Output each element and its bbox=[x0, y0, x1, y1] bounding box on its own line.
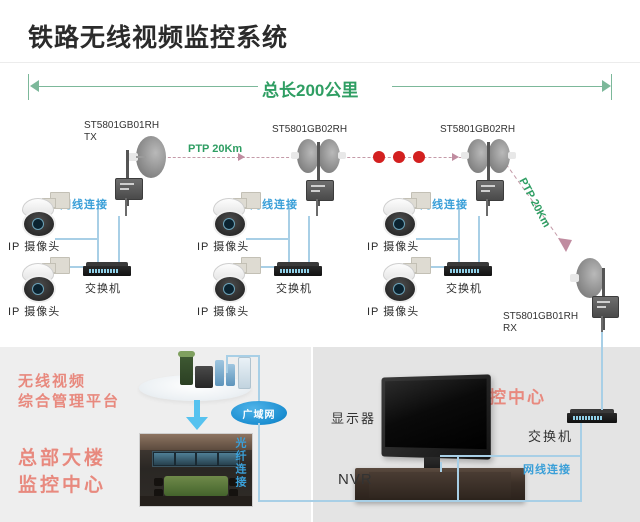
site-3-switch-label: 交换机 bbox=[446, 280, 482, 296]
site-3-camera-2-label: IP 摄像头 bbox=[367, 303, 419, 319]
cable-cam1-run-1 bbox=[55, 238, 99, 240]
ip-camera-1b bbox=[12, 257, 68, 303]
cable-wan-up bbox=[258, 355, 260, 403]
site-1-camera-1-label: IP 摄像头 bbox=[8, 238, 60, 254]
page-title: 铁路无线视频监控系统 bbox=[28, 18, 288, 54]
antenna-drop-cable bbox=[601, 316, 603, 332]
site-2-switch-label: 交换机 bbox=[276, 280, 312, 296]
platform-server-black bbox=[195, 366, 213, 388]
site-1-camera-2-label: IP 摄像头 bbox=[8, 303, 60, 319]
platform-device-cap bbox=[178, 351, 195, 357]
cable-fiber-to-center bbox=[258, 500, 320, 502]
cable-nvr-to-switch bbox=[457, 455, 581, 457]
cable-cam-to-switch-3 bbox=[458, 206, 460, 268]
total-length-label: 总长200公里 bbox=[262, 76, 358, 101]
backbone-node-1-role: TX bbox=[84, 132, 97, 144]
backbone-node-4-role: RX bbox=[503, 323, 517, 335]
switch-site-1 bbox=[83, 262, 131, 276]
cable-cam1-run-2 bbox=[246, 238, 290, 240]
site-2-camera-2-label: IP 摄像头 bbox=[197, 303, 249, 319]
cable-nvr-up bbox=[457, 455, 459, 501]
continuation-dot bbox=[413, 151, 425, 163]
dish-antenna-2a bbox=[291, 139, 319, 173]
continuation-dot bbox=[373, 151, 385, 163]
monitor-label: 显示器 bbox=[331, 408, 376, 427]
site-2-camera-1-label: IP 摄像头 bbox=[197, 238, 249, 254]
cable-cam1-run-3 bbox=[416, 238, 460, 240]
cable-fiber-down bbox=[258, 423, 260, 502]
backbone-node-1-model: ST5801GB01RH bbox=[84, 120, 159, 132]
ip-camera-2a bbox=[203, 192, 259, 238]
cable-cam-to-switch-1 bbox=[97, 206, 99, 268]
dish-antenna-3a bbox=[461, 139, 489, 173]
control-center-cable-label: 网线连接 bbox=[523, 461, 571, 477]
antenna-drop-cable bbox=[125, 198, 127, 216]
total-length-dimension: 总长200公里 bbox=[0, 74, 640, 108]
cable-center-bus bbox=[320, 500, 582, 502]
switch-control-center bbox=[567, 409, 617, 423]
ip-camera-2b bbox=[203, 257, 259, 303]
continuation-dot bbox=[393, 151, 405, 163]
nvr-label: NVR bbox=[338, 471, 373, 488]
antenna-drop-cable bbox=[316, 199, 318, 216]
cable-rx-to-switch bbox=[601, 332, 603, 410]
platform-server-blue-1 bbox=[215, 360, 224, 386]
ip-camera-3b bbox=[373, 257, 429, 303]
platform-label-line2: 综合管理平台 bbox=[18, 390, 120, 411]
building-label-line1: 总部大楼 bbox=[18, 443, 106, 470]
control-center-switch-label: 交换机 bbox=[528, 426, 573, 445]
dish-antenna-rx bbox=[570, 258, 604, 298]
title-divider bbox=[0, 62, 640, 63]
backbone-node-4-model: ST5801GB01RH bbox=[503, 311, 578, 323]
switch-site-3 bbox=[444, 262, 492, 276]
switch-site-2 bbox=[274, 262, 322, 276]
cable-radio-to-switch-2 bbox=[308, 216, 310, 268]
backbone-node-3-model: ST5801GB02RH bbox=[440, 124, 515, 136]
platform-device-tower bbox=[180, 355, 193, 385]
site-3-camera-1-label: IP 摄像头 bbox=[367, 238, 419, 254]
nvr-device bbox=[355, 468, 525, 502]
radio-unit-3 bbox=[476, 180, 504, 201]
radio-unit-rx bbox=[592, 296, 619, 318]
antenna-drop-cable bbox=[486, 199, 488, 216]
ip-camera-1a bbox=[12, 192, 68, 238]
platform-label-line1: 无线视频 bbox=[18, 370, 86, 391]
rf-link-1 bbox=[158, 157, 294, 158]
dish-antenna-tx bbox=[128, 136, 166, 178]
rf-link-label-1: PTP 20Km bbox=[188, 143, 242, 155]
cable-wan-left bbox=[226, 355, 260, 357]
wan-label: 广域网 bbox=[243, 406, 276, 421]
cable-cam-to-switch-2 bbox=[288, 206, 290, 268]
rf-link-diagonal bbox=[500, 160, 600, 270]
dish-antenna-2b bbox=[318, 139, 346, 173]
cable-radio-to-switch-1 bbox=[118, 216, 120, 268]
rf-arrow-2 bbox=[452, 153, 459, 161]
monitor-display bbox=[382, 374, 491, 459]
radio-unit-tx bbox=[115, 178, 143, 200]
diagram-canvas: 铁路无线视频监控系统 总长200公里 PTP 20Km PTP 20Km ST5… bbox=[0, 0, 640, 522]
ip-camera-3a bbox=[373, 192, 429, 238]
platform-to-building-arrow bbox=[186, 400, 208, 430]
cable-switch-down bbox=[580, 423, 582, 502]
platform-device-white bbox=[238, 357, 251, 389]
building-label-line2: 监控中心 bbox=[18, 470, 106, 497]
cable-wan-to-hq bbox=[226, 355, 228, 373]
fiber-label: 光纤连接 bbox=[232, 437, 248, 489]
cable-radio-to-switch-3 bbox=[478, 216, 480, 268]
cable-nvr-link bbox=[440, 455, 458, 457]
dish-antenna-3b bbox=[488, 139, 516, 173]
backbone-node-2-model: ST5801GB02RH bbox=[272, 124, 347, 136]
cable-nvr-port bbox=[440, 462, 442, 472]
site-1-switch-label: 交换机 bbox=[85, 280, 121, 296]
wan-node: 广域网 bbox=[231, 401, 287, 425]
radio-unit-2 bbox=[306, 180, 334, 201]
